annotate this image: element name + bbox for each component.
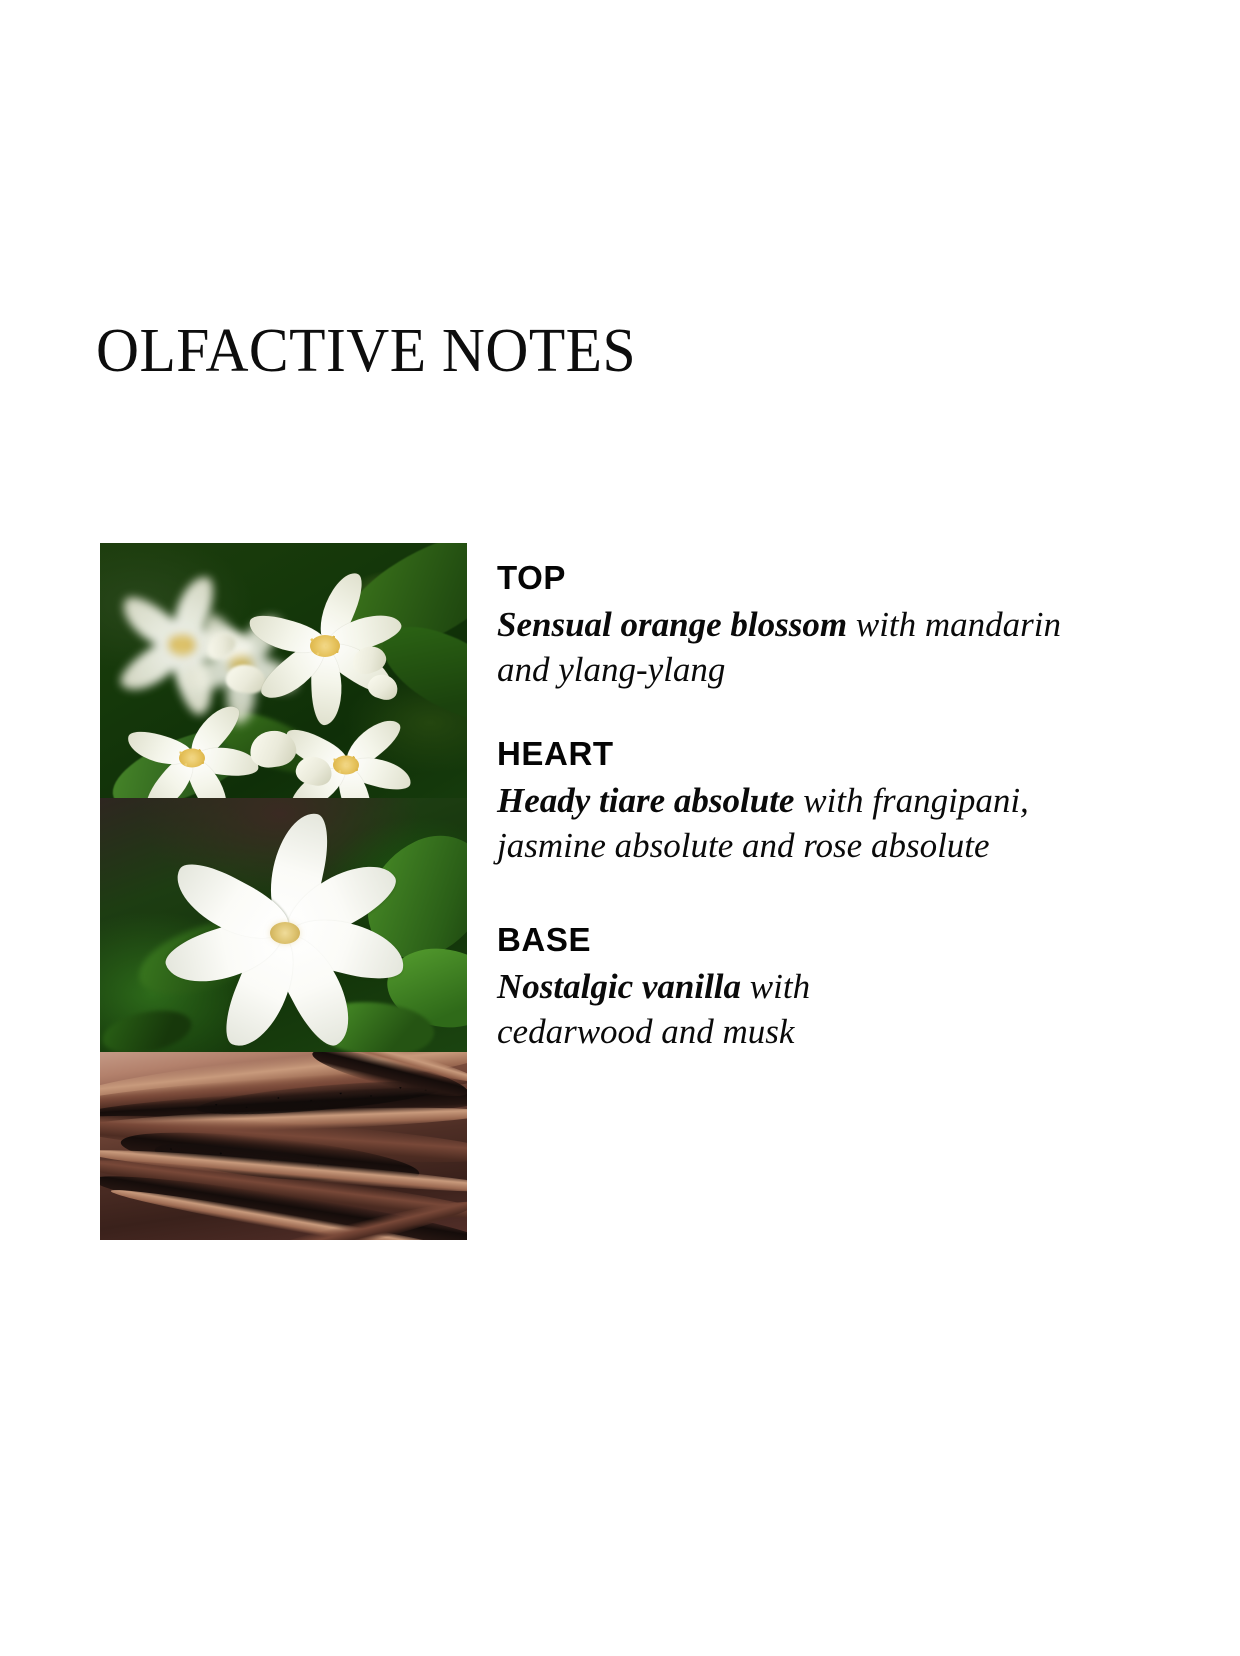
note-group-heart: HEART Heady tiare absolute with frangipa… [497,735,1097,869]
blossom-shape [122,693,262,798]
note-image-strip [100,543,467,1240]
page-title: OLFACTIVE NOTES [96,320,636,382]
orange-blossom-photo [100,543,467,798]
note-group-top: TOP Sensual orange blossom with mandarin… [497,559,1097,693]
blossom-shape [276,699,416,798]
note-label-base: BASE [497,921,1097,959]
note-label-heart: HEART [497,735,1097,773]
note-lead-top: Sensual orange blossom [497,605,847,644]
note-description-top: Sensual orange blossom with mandarin and… [497,602,1082,693]
note-lead-base: Nostalgic vanilla [497,967,741,1006]
tiare-flower-photo [100,798,467,1052]
tiare-blossom-shape [160,818,410,1048]
note-lead-heart: Heady tiare absolute [497,781,794,820]
olfactive-notes-block: TOP Sensual orange blossom with mandarin… [0,543,1240,1243]
note-group-base: BASE Nostalgic vanilla with cedarwood an… [497,921,1097,1055]
vanilla-beans-photo [100,1052,467,1240]
note-description-base: Nostalgic vanilla with cedarwood and mus… [497,964,967,1055]
note-text-column: TOP Sensual orange blossom with mandarin… [497,559,1097,1055]
note-description-heart: Heady tiare absolute with frangipani, ja… [497,778,1072,869]
note-label-top: TOP [497,559,1097,597]
